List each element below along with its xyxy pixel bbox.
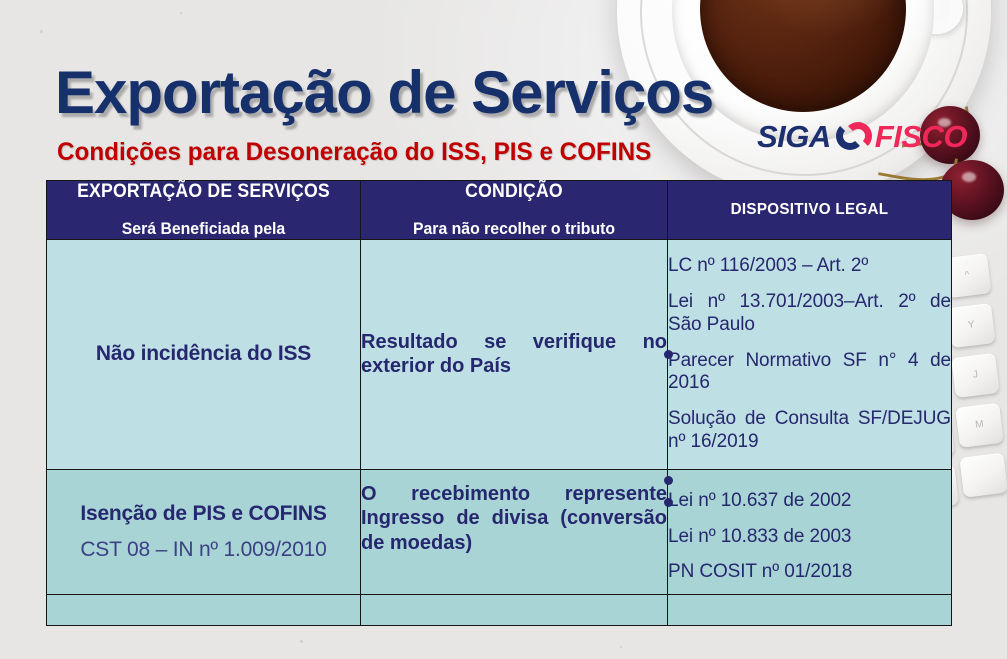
table-row: Isenção de PIS e COFINS CST 08 – IN nº 1… <box>47 469 952 594</box>
header-cell-dispositivo-legal: DISPOSITIVO LEGAL <box>668 181 952 240</box>
row2-legal-cell: Lei nº 10.637 de 2002 Lei nº 10.833 de 2… <box>668 469 952 594</box>
table-row-filler <box>47 595 952 626</box>
bullet-icon <box>664 350 673 359</box>
row2-benefit-subtitle: CST 08 – IN nº 1.009/2010 <box>47 538 360 562</box>
page-subtitle: Condições para Desoneração do ISS, PIS e… <box>57 138 651 167</box>
page-title: Exportação de Serviços <box>55 58 713 127</box>
filler-cell <box>668 595 952 626</box>
legal-reference: Lei nº 10.833 de 2003 <box>668 526 951 549</box>
legal-reference: Lei nº 10.637 de 2002 <box>668 490 951 513</box>
bullet-icon <box>664 498 673 507</box>
bullet-icon <box>664 476 673 485</box>
keyboard-key: Y <box>947 303 996 348</box>
legal-reference: Parecer Normativo SF n° 4 de 2016 <box>668 350 951 396</box>
row2-benefit-cell: Isenção de PIS e COFINS CST 08 – IN nº 1… <box>47 469 361 594</box>
keyboard-key <box>959 453 1007 498</box>
row1-legal-cell: LC nº 116/2003 – Art. 2º Lei nº 13.701/2… <box>668 240 952 470</box>
row1-condition-text: Resultado se verifique no exterior do Pa… <box>361 330 667 379</box>
table-row: Não incidência do ISS Resultado se verif… <box>47 240 952 470</box>
logo-word-fisco: FISCO <box>875 119 967 155</box>
keyboard-key: J <box>951 353 1000 398</box>
legal-reference: PN COSIT nº 01/2018 <box>668 561 951 584</box>
header-title: EXPORTAÇÃO DE SERVIÇOS <box>58 181 349 203</box>
filler-cell <box>361 595 668 626</box>
dust-speck <box>180 12 182 14</box>
row1-benefit-cell: Não incidência do ISS <box>47 240 361 470</box>
legal-reference: LC nº 116/2003 – Art. 2º <box>668 255 951 278</box>
legal-reference: Solução de Consulta SF/DEJUG nº 16/2019 <box>668 408 951 454</box>
table-header-row: EXPORTAÇÃO DE SERVIÇOS Será Beneficiada … <box>47 181 952 240</box>
logo-word-siga: SIGA <box>757 119 831 155</box>
circular-arrow-icon <box>836 120 872 154</box>
row2-condition-cell: O recebimento represente Ingresso de div… <box>361 469 668 594</box>
row1-benefit-title: Não incidência do ISS <box>47 342 360 366</box>
row2-condition-text: O recebimento represente Ingresso de div… <box>361 482 667 555</box>
dust-speck <box>620 646 622 648</box>
siga-fisco-logo[interactable]: SIGA FISCO <box>757 115 967 159</box>
keyboard-key: M <box>955 403 1004 448</box>
header-subtitle: Será Beneficiada pela <box>58 219 349 239</box>
dust-speck <box>40 30 43 33</box>
cherry-gloss <box>962 172 976 182</box>
header-cell-condicao: CONDIÇÃO Para não recolher o tributo <box>361 181 668 240</box>
header-title: CONDIÇÃO <box>372 181 657 203</box>
header-cell-exportacao: EXPORTAÇÃO DE SERVIÇOS Será Beneficiada … <box>47 181 361 240</box>
header-subtitle: Para não recolher o tributo <box>372 219 657 239</box>
conditions-table: EXPORTAÇÃO DE SERVIÇOS Será Beneficiada … <box>46 180 952 626</box>
header-title: DISPOSITIVO LEGAL <box>675 201 944 219</box>
dust-speck <box>300 640 303 643</box>
filler-cell <box>47 595 361 626</box>
row1-condition-cell: Resultado se verifique no exterior do Pa… <box>361 240 668 470</box>
row2-benefit-title: Isenção de PIS e COFINS <box>47 502 360 526</box>
legal-reference: Lei nº 13.701/2003–Art. 2º de São Paulo <box>668 291 951 337</box>
